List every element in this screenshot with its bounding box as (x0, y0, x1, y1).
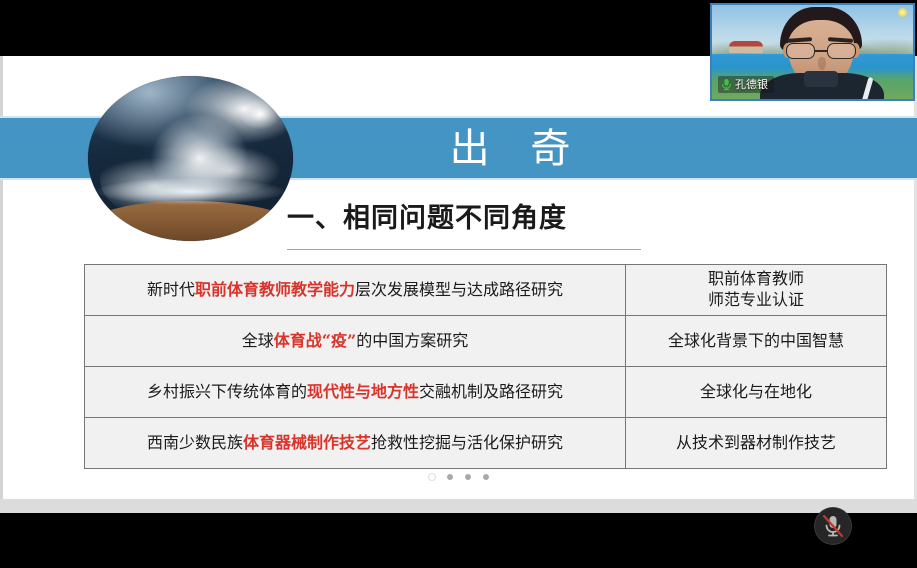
topic-title-cell: 新时代职前体育教师教学能力层次发展模型与达成路径研究 (85, 265, 626, 316)
presentation-slide: 出 奇 一、相同问题不同角度 新时代职前体育教师教学能力层次发展模型与达成路径研… (0, 56, 917, 513)
topic-theme-cell: 全球化与在地化 (626, 367, 887, 418)
table-row: 全球体育战“疫”的中国方案研究全球化背景下的中国智慧 (85, 316, 887, 367)
wave-shoreline-foam (96, 178, 285, 204)
pagination-dot[interactable] (483, 474, 489, 480)
glasses-bridge (815, 50, 827, 52)
participant-name-badge: 孔德银 (718, 76, 774, 93)
table-row: 西南少数民族体育器械制作技艺抢救性挖掘与活化保护研究从技术到器材制作技艺 (85, 418, 887, 469)
meeting-screen-share-view: 出 奇 一、相同问题不同角度 新时代职前体育教师教学能力层次发展模型与达成路径研… (0, 0, 917, 568)
highlighted-keyword: 职前体育教师教学能力 (195, 280, 355, 299)
table-row: 乡村振兴下传统体育的现代性与地方性交融机制及路径研究全球化与在地化 (85, 367, 887, 418)
slide-subtitle: 一、相同问题不同角度 (287, 196, 707, 235)
portrait-collar (804, 71, 838, 87)
topic-text-segment: 新时代 (147, 280, 195, 299)
topic-theme-cell: 全球化背景下的中国智慧 (626, 316, 887, 367)
topic-title-cell: 全球体育战“疫”的中国方案研究 (85, 316, 626, 367)
topic-text-segment: 抢救性挖掘与活化保护研究 (371, 433, 563, 452)
participant-name: 孔德银 (735, 79, 768, 90)
topic-text-segment: 交融机制及路径研究 (419, 382, 563, 401)
highlighted-keyword: 现代性与地方性 (307, 382, 419, 401)
slide-bottom-strip (0, 499, 917, 513)
microphone-on-icon (721, 78, 732, 91)
subtitle-underline (287, 249, 641, 250)
highlighted-keyword: 体育战“疫” (274, 331, 356, 350)
wave-sand (88, 201, 293, 241)
glasses-lens-right (827, 43, 856, 59)
slide-title: 出 奇 (300, 122, 720, 176)
glasses-lens-left (786, 43, 815, 59)
topic-text-segment: 全球 (242, 331, 274, 350)
slide-pagination-dots[interactable] (0, 474, 917, 480)
topics-table-body: 新时代职前体育教师教学能力层次发展模型与达成路径研究职前体育教师师范专业认证全球… (85, 265, 887, 469)
topic-title-cell: 乡村振兴下传统体育的现代性与地方性交融机制及路径研究 (85, 367, 626, 418)
sun-icon (898, 8, 907, 17)
participant-video-tile[interactable]: 孔德银 (710, 3, 915, 101)
microphone-muted-icon (815, 508, 851, 544)
topic-text-segment: 的中国方案研究 (356, 331, 468, 350)
topic-text-segment: 乡村振兴下传统体育的 (147, 382, 307, 401)
topic-title-cell: 西南少数民族体育器械制作技艺抢救性挖掘与活化保护研究 (85, 418, 626, 469)
topic-theme-line: 职前体育教师 (634, 269, 878, 290)
highlighted-keyword: 体育器械制作技艺 (243, 433, 371, 452)
ocean-wave-circle-image (88, 76, 293, 241)
wave-sun-sparkle (240, 99, 280, 129)
topics-table: 新时代职前体育教师教学能力层次发展模型与达成路径研究职前体育教师师范专业认证全球… (84, 264, 887, 469)
participant-portrait (758, 7, 884, 101)
topic-text-segment: 西南少数民族 (147, 433, 243, 452)
pagination-dot[interactable] (429, 474, 435, 480)
topic-theme-cell: 从技术到器材制作技艺 (626, 418, 887, 469)
table-row: 新时代职前体育教师教学能力层次发展模型与达成路径研究职前体育教师师范专业认证 (85, 265, 887, 316)
portrait-nose (818, 57, 826, 70)
topic-theme-line: 全球化与在地化 (634, 382, 878, 403)
topic-theme-line: 全球化背景下的中国智慧 (634, 331, 878, 352)
topic-theme-cell: 职前体育教师师范专业认证 (626, 265, 887, 316)
microphone-mute-button[interactable] (815, 508, 851, 544)
pagination-dot[interactable] (465, 474, 471, 480)
pagination-dot[interactable] (447, 474, 453, 480)
topic-theme-line: 师范专业认证 (634, 290, 878, 311)
topic-text-segment: 层次发展模型与达成路径研究 (355, 280, 563, 299)
topic-theme-line: 从技术到器材制作技艺 (634, 433, 878, 454)
